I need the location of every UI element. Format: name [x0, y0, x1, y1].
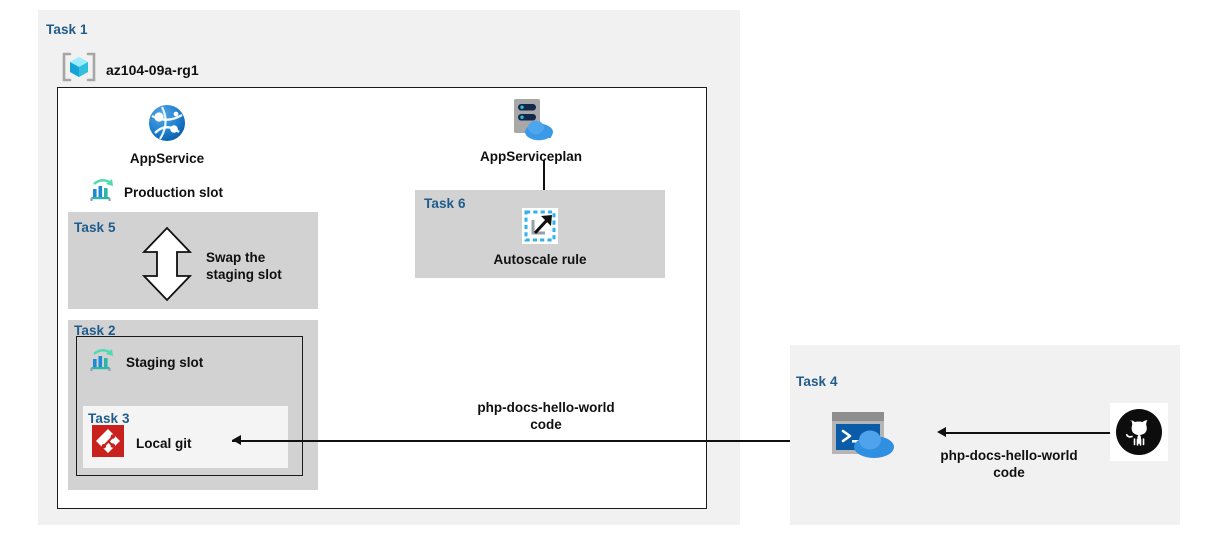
arrow-github-to-shell-line [945, 432, 1110, 434]
center-flow-caption: php-docs-hello-world code [462, 400, 630, 434]
center-caption-line2: code [530, 417, 562, 432]
cloud-shell-icon [830, 447, 898, 464]
resource-group-row: az104-09a-rg1 [60, 52, 199, 87]
deployment-slot-icon [88, 176, 116, 209]
task6-label: Task 6 [424, 196, 466, 211]
arrow-github-to-shell-head [937, 427, 946, 437]
swap-action-label: Swap the staging slot [206, 250, 282, 284]
resource-group-name: az104-09a-rg1 [106, 62, 199, 78]
center-caption-line1: php-docs-hello-world [477, 400, 614, 415]
task4-flow-caption: php-docs-hello-world code [925, 448, 1093, 482]
appserviceplan-node: AppServiceplan [470, 96, 592, 164]
app-service-icon [146, 102, 188, 149]
appservice-label: AppService [130, 151, 204, 166]
arrow-plan-to-autoscale-line [543, 160, 545, 192]
double-arrow-up-down-icon [140, 225, 194, 308]
github-node [1110, 403, 1168, 466]
task4-caption-line2: code [993, 465, 1025, 480]
task1-label: Task 1 [46, 22, 88, 37]
appserviceplan-label: AppServiceplan [480, 149, 582, 164]
production-slot-label: Production slot [124, 185, 223, 200]
local-git-label: Local git [136, 436, 192, 451]
local-git-node: Local git [92, 425, 192, 462]
diagram-canvas: Task 1 az104-09a-rg1 [0, 0, 1218, 545]
autoscale-label: Autoscale rule [493, 252, 586, 267]
deployment-slot-icon [88, 346, 116, 379]
staging-slot-label: Staging slot [126, 355, 203, 370]
autoscale-node: Autoscale rule [478, 208, 602, 267]
task4-label: Task 4 [796, 374, 838, 389]
production-slot-node: Production slot [88, 176, 223, 209]
task3-label: Task 3 [88, 411, 130, 426]
swap-line1: Swap the [206, 250, 265, 265]
arrow-shell-to-git-head [232, 435, 241, 445]
resource-group-icon [60, 52, 98, 87]
swap-line2: staging slot [206, 267, 282, 282]
appservice-node: AppService [118, 102, 216, 166]
github-icon [1110, 448, 1168, 465]
swap-node: Swap the staging slot [140, 225, 282, 308]
task5-label: Task 5 [74, 220, 116, 235]
cloud-shell-node [830, 410, 898, 465]
app-service-plan-icon [505, 96, 557, 147]
git-icon [92, 425, 124, 462]
arrow-shell-to-git-line [232, 440, 827, 442]
staging-slot-node: Staging slot [88, 346, 203, 379]
autoscale-icon [522, 208, 558, 249]
task4-caption-line1: php-docs-hello-world [940, 448, 1077, 463]
